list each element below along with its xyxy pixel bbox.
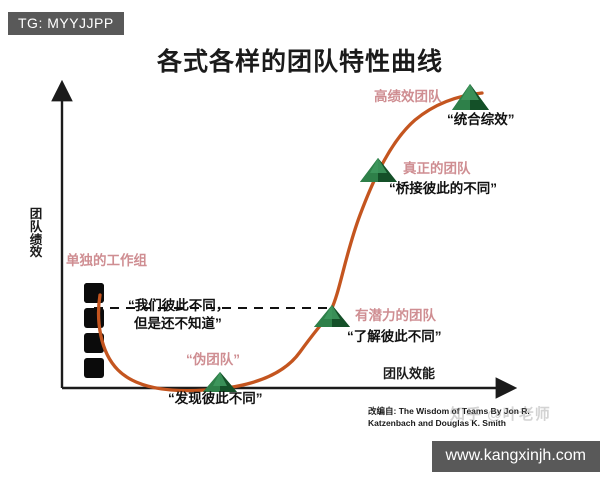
source-attribution: 改编自: The Wisdom of Teams By Jon R. Katze…: [368, 405, 568, 430]
marker-real-team: [360, 158, 397, 182]
annotation-pseudo-team-quote-line2: 但是还不知道”: [134, 316, 222, 332]
y-axis-label: 团队绩效: [28, 208, 44, 259]
annotation-pseudo-team-quote-line1: “我们彼此不同，: [128, 298, 229, 314]
page-title: 各式各样的团队特性曲线: [0, 42, 600, 78]
chart-page: 各式各样的团队特性曲线 团队绩效 团队效能 单独的工作组 “我们彼此不同， 但是…: [0, 0, 600, 480]
annotation-potential-team: 有潜力的团队: [355, 308, 436, 324]
marker-pseudo-team: [203, 372, 237, 392]
tg-badge: TG: MYYJJPP: [8, 12, 124, 35]
annotation-potential-team-quote: “了解彼此不同”: [347, 329, 442, 345]
annotation-working-group: 单独的工作组: [66, 253, 147, 269]
x-axis-label: 团队效能: [383, 366, 435, 381]
annotation-real-team-quote: “桥接彼此的不同”: [389, 181, 497, 197]
source-line-2: Katzenbach and Douglas K. Smith: [368, 417, 568, 429]
annotation-discover-quote: “发现彼此不同”: [168, 391, 263, 407]
annotation-pseudo-team: “伪团队”: [186, 352, 240, 368]
annotation-high-performance-quote: “统合综效”: [447, 112, 515, 128]
site-url-badge: www.kangxinjh.com: [432, 441, 600, 472]
annotation-high-performance-team: 高绩效团队: [374, 89, 442, 105]
performance-curve: [99, 93, 482, 391]
annotation-real-team: 真正的团队: [403, 161, 471, 177]
working-group-square-top: [84, 283, 104, 303]
source-line-1: 改编自: The Wisdom of Teams By Jon R.: [368, 405, 568, 417]
